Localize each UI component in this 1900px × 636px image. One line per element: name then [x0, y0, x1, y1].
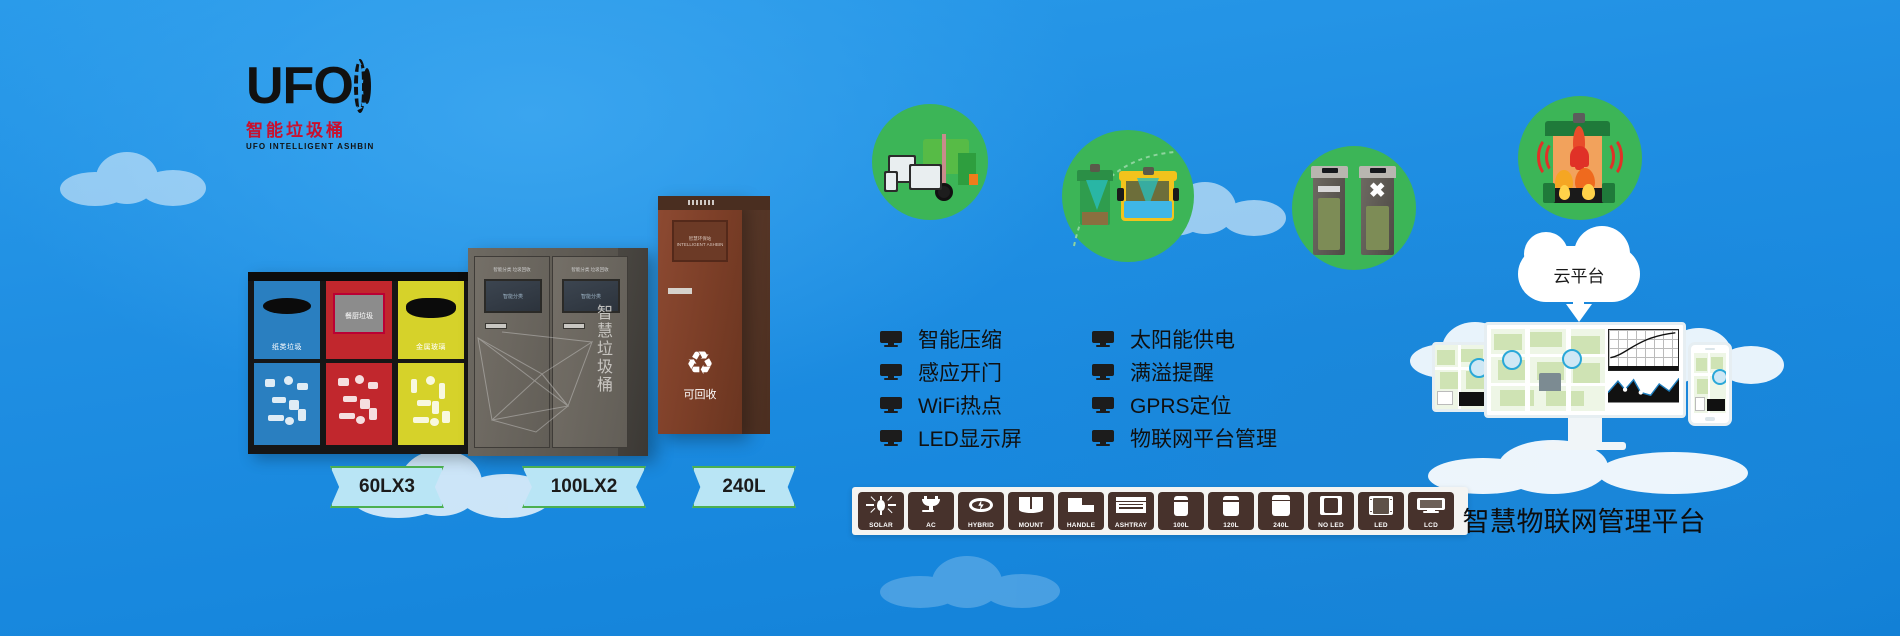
- bin-120l-icon: [1208, 493, 1254, 519]
- feature-item: 感应开门: [880, 355, 1022, 388]
- feature-item: 满溢提醒: [1092, 355, 1277, 388]
- polygon-decoration: [472, 328, 622, 440]
- litter-graphic: [406, 371, 456, 437]
- option-label: HYBRID: [958, 522, 1004, 529]
- promo-banner: UFO 智能垃圾桶 UFO INTELLIGENT ASHBIN 纸类垃圾: [0, 0, 1900, 636]
- monitor-icon: [880, 364, 902, 380]
- bin-top-text: 智能分类 垃圾回收: [553, 267, 627, 273]
- option-chip-handle[interactable]: HANDLE: [1058, 492, 1104, 530]
- cloud-decoration: [60, 148, 210, 208]
- garbage-truck-with-devices-icon: [872, 104, 988, 220]
- bin-handle: [668, 288, 692, 294]
- compartment-label: 金属玻璃: [398, 342, 464, 352]
- download-arrow-icon: [1566, 304, 1592, 322]
- fire-alarm-bin-icon: [1518, 96, 1642, 220]
- monitor-icon: [1092, 364, 1114, 380]
- monitor-base: [1544, 442, 1626, 450]
- monitor-neck: [1568, 418, 1602, 444]
- option-label: HANDLE: [1058, 522, 1104, 529]
- wall-mount-icon: [1008, 493, 1054, 519]
- map-view: [1694, 353, 1726, 413]
- option-chip-no-led[interactable]: NO LED: [1308, 492, 1354, 530]
- gear-ring-icon: [354, 59, 366, 113]
- feature-list-left: 智能压缩 感应开门 WiFi热点 LED显示屏: [880, 322, 1022, 454]
- logo-english-tagline: UFO INTELLIGENT ASHBIN: [246, 142, 366, 151]
- alarm-bell-icon: [1570, 146, 1589, 167]
- bin-compartment-kitchen: 餐厨垃圾: [326, 281, 392, 445]
- option-chip-120l[interactable]: 120L: [1208, 492, 1254, 530]
- option-label: 100L: [1158, 522, 1204, 529]
- feature-item: WiFi热点: [880, 388, 1022, 421]
- monitor-icon: [1092, 430, 1114, 446]
- option-chip-240l[interactable]: 240L: [1258, 492, 1304, 530]
- feature-label: 智能压缩: [918, 324, 1002, 354]
- bin-100l-icon: [1158, 493, 1204, 519]
- option-chip-mount[interactable]: MOUNT: [1008, 492, 1054, 530]
- bin-240l-icon: [1258, 493, 1304, 519]
- smart-double-bin: 智能分类 垃圾回收 智能分类 智能分类 垃圾回收 智能分类 智慧垃圾桶: [468, 248, 648, 456]
- feature-item: 物联网平台管理: [1092, 421, 1277, 454]
- feature-label: 感应开门: [918, 357, 1002, 387]
- map-view: [1491, 329, 1605, 411]
- compartment-label: 纸类垃圾: [254, 342, 320, 352]
- bin-screen: 智慧环保站 INTELLIGENT ASHBIN: [672, 220, 728, 262]
- feature-item: LED显示屏: [880, 421, 1022, 454]
- recycle-label: 可回收: [658, 386, 742, 402]
- option-chip-ashtray[interactable]: ASHTRAY: [1108, 492, 1154, 530]
- sun-icon: [858, 493, 904, 519]
- bin-compartment-paper: 纸类垃圾: [254, 281, 320, 445]
- feature-item: GPRS定位: [1092, 388, 1277, 421]
- laptop-icon: [909, 164, 941, 190]
- capacity-label-100lx2: 100LX2: [522, 466, 646, 508]
- phone-icon: [884, 171, 898, 192]
- option-chip-100l[interactable]: 100L: [1158, 492, 1204, 530]
- desktop-monitor: [1484, 322, 1686, 418]
- litter-graphic: [262, 371, 312, 437]
- feature-label: LED显示屏: [918, 423, 1022, 453]
- feature-label: 满溢提醒: [1130, 357, 1214, 387]
- compression-bins-icon: ✖: [1292, 146, 1416, 270]
- platform-caption: 智慧物联网管理平台: [1404, 500, 1764, 539]
- cloud-platform-tag: 云平台: [1518, 246, 1640, 302]
- handle-icon: [1058, 493, 1104, 519]
- option-label: NO LED: [1308, 522, 1354, 529]
- option-chip-ac[interactable]: AC: [908, 492, 954, 530]
- brown-recycling-bin: 智慧环保站 INTELLIGENT ASHBIN ♻ 可回收: [658, 196, 770, 434]
- option-label: SOLAR: [858, 522, 904, 529]
- cloud-decoration: [880, 556, 1060, 608]
- bin-vent: [688, 200, 716, 205]
- logo-wordmark-row: UFO: [246, 58, 366, 114]
- monitor-icon: [880, 430, 902, 446]
- logo-chinese-name: 智能垃圾桶: [246, 116, 366, 141]
- litter-graphic: [334, 371, 384, 437]
- option-label: AC: [908, 522, 954, 529]
- option-chip-solar[interactable]: SOLAR: [858, 492, 904, 530]
- logo-wordmark: UFO: [246, 60, 353, 112]
- feature-item: 智能压缩: [880, 322, 1022, 355]
- compartment-lcd: 餐厨垃圾: [333, 293, 386, 334]
- capacity-label-60lx3: 60LX3: [330, 466, 444, 508]
- area-chart: [1608, 374, 1679, 411]
- ashtray-icon: [1108, 493, 1154, 519]
- option-icon-strip: SOLAR AC HYBRID M: [852, 487, 1468, 535]
- brand-logo: UFO 智能垃圾桶 UFO INTELLIGENT ASHBIN: [246, 58, 366, 151]
- monitor-icon: [1092, 397, 1114, 413]
- bin-compartment-metal-glass: 金属玻璃: [398, 281, 464, 445]
- smartphone-device: [1688, 342, 1732, 426]
- bin-fill-sensor-icon: [1062, 130, 1194, 262]
- hybrid-power-icon: [958, 493, 1004, 519]
- feature-label: GPRS定位: [1130, 390, 1232, 420]
- led-panel-icon: [1358, 493, 1404, 519]
- three-compartment-bin: 纸类垃圾 餐厨垃圾: [248, 272, 470, 454]
- line-chart: [1608, 329, 1679, 371]
- compartment-label: 餐厨垃圾: [335, 311, 384, 321]
- capacity-label-240l: 240L: [692, 466, 796, 508]
- feature-label: WiFi热点: [918, 390, 1002, 420]
- no-led-panel-icon: [1308, 493, 1354, 519]
- feature-item: 太阳能供电: [1092, 322, 1277, 355]
- monitor-icon: [880, 331, 902, 347]
- feature-list-right: 太阳能供电 满溢提醒 GPRS定位 物联网平台管理: [1092, 322, 1277, 454]
- option-label: LED: [1358, 522, 1404, 529]
- option-chip-led[interactable]: LED: [1358, 492, 1404, 530]
- option-label: 240L: [1258, 522, 1304, 529]
- option-label: 120L: [1208, 522, 1254, 529]
- iot-platform-illustration: 云平台: [1432, 246, 1738, 476]
- option-label: MOUNT: [1008, 522, 1054, 529]
- feature-label: 太阳能供电: [1130, 324, 1235, 354]
- bin-lcd-screen: 智能分类: [484, 279, 542, 313]
- feature-label: 物联网平台管理: [1130, 423, 1277, 453]
- recycle-icon: ♻: [680, 346, 720, 380]
- monitor-icon: [1092, 331, 1114, 347]
- power-plug-icon: [908, 493, 954, 519]
- cloud-platform-label: 云平台: [1554, 262, 1605, 287]
- option-label: ASHTRAY: [1108, 522, 1154, 529]
- bin-top-text: 智能分类 垃圾回收: [475, 267, 549, 273]
- bin-screen-text: 智慧环保站 INTELLIGENT ASHBIN: [674, 236, 726, 247]
- monitor-icon: [880, 397, 902, 413]
- compression-arrows-icon: ✖: [1369, 181, 1386, 201]
- option-chip-hybrid[interactable]: HYBRID: [958, 492, 1004, 530]
